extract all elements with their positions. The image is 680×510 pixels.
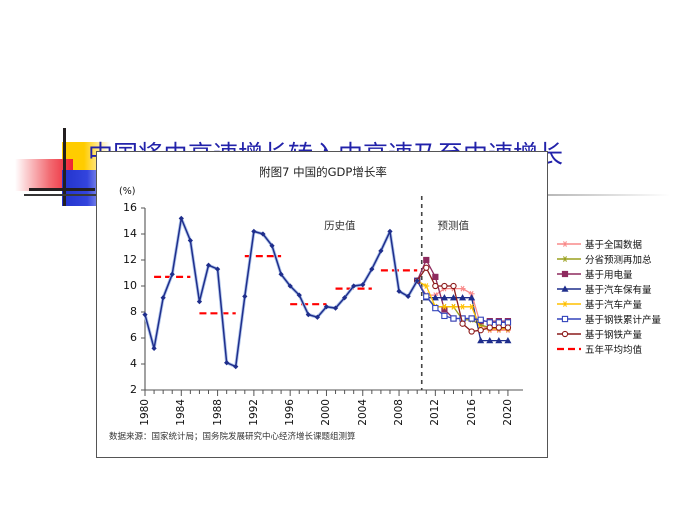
x-axis-tick-label: 2020 <box>502 399 514 426</box>
legend-item[interactable]: 基于钢铁产量 <box>556 326 678 341</box>
series-line <box>417 281 508 341</box>
history-line-halo <box>145 218 417 366</box>
legend-label: 分省预测再加总 <box>585 252 652 266</box>
data-point-marker <box>562 241 568 246</box>
chart-legend: 基于全国数据分省预测再加总基于用电量基于汽车保有量基于汽车产量基于钢铁累计产量基… <box>556 236 678 356</box>
legend-marker-icon <box>556 328 582 340</box>
source-note: 数据来源：国家统计局；国务院发展研究中心经济增长课题组测算 <box>109 430 356 442</box>
x-axis-tick-label: 2016 <box>466 399 478 426</box>
data-point-marker <box>496 320 501 325</box>
legend-label: 基于钢铁产量 <box>585 327 642 341</box>
data-point-marker <box>505 320 510 325</box>
data-point-marker <box>460 304 466 309</box>
legend-item[interactable]: 分省预测再加总 <box>556 251 678 266</box>
data-point-marker <box>424 265 429 270</box>
y-axis-tick-label: 12 <box>115 253 137 266</box>
legend-item[interactable]: 基于汽车产量 <box>556 296 678 311</box>
data-point-marker <box>450 304 456 309</box>
data-point-marker <box>423 257 429 263</box>
series-line <box>145 218 417 366</box>
x-axis-tick-label: 1984 <box>175 399 187 426</box>
data-point-marker <box>505 325 510 330</box>
plot-area: 2468101214161980198419881992199620002004… <box>97 152 549 459</box>
legend-item[interactable]: 基于钢铁累计产量 <box>556 311 678 326</box>
series-forecast <box>415 278 511 325</box>
legend-marker-icon <box>556 283 582 295</box>
data-point-marker <box>460 321 465 326</box>
data-point-marker <box>496 325 501 330</box>
legend-marker-icon <box>556 238 582 250</box>
legend-marker-icon <box>556 253 582 265</box>
data-point-marker <box>487 325 492 330</box>
data-point-marker <box>433 283 438 288</box>
data-point-marker <box>424 294 429 299</box>
x-axis-tick-label: 2008 <box>393 399 405 426</box>
legend-label: 五年平均均值 <box>585 342 642 356</box>
legend-marker-icon <box>556 343 582 355</box>
legend-label: 基于汽车产量 <box>585 297 642 311</box>
series-history <box>143 216 420 369</box>
data-point-marker <box>433 306 438 311</box>
data-point-marker <box>451 283 456 288</box>
data-point-marker <box>562 271 568 277</box>
data-point-marker <box>469 316 474 321</box>
data-point-marker <box>562 301 568 306</box>
data-point-marker <box>451 316 456 321</box>
data-point-marker <box>487 320 492 325</box>
legend-label: 基于钢铁累计产量 <box>585 312 661 326</box>
x-axis-tick-label: 2000 <box>320 399 332 426</box>
y-axis-tick-label: 6 <box>115 331 137 344</box>
legend-item[interactable]: 基于汽车保有量 <box>556 281 678 296</box>
legend-marker-icon <box>556 268 582 280</box>
legend-item[interactable]: 基于用电量 <box>556 266 678 281</box>
y-axis-tick-label: 4 <box>115 357 137 370</box>
x-axis-tick-label: 2012 <box>429 399 441 426</box>
data-point-marker <box>478 317 483 322</box>
history-band-label: 历史值 <box>324 218 356 233</box>
x-axis-tick-label: 1996 <box>284 399 296 426</box>
data-point-marker <box>562 331 567 336</box>
data-point-marker <box>469 329 474 334</box>
legend-marker-icon <box>556 313 582 325</box>
x-axis-tick-label: 2004 <box>357 399 369 426</box>
x-axis-tick-label: 1980 <box>139 399 151 426</box>
forecast-band-label: 预测值 <box>437 218 469 233</box>
legend-label: 基于全国数据 <box>585 237 642 251</box>
legend-label: 基于汽车保有量 <box>585 282 652 296</box>
y-axis-tick-label: 2 <box>115 383 137 396</box>
y-axis-tick-label: 10 <box>115 279 137 292</box>
decor-horizontal-bar <box>29 188 95 191</box>
data-point-marker <box>562 316 567 321</box>
data-point-marker <box>442 283 447 288</box>
legend-item[interactable]: 基于全国数据 <box>556 236 678 251</box>
slide-title-block: 中国将由高速增长转入中高速乃至中速增长 <box>0 60 680 160</box>
legend-label: 基于用电量 <box>585 267 633 281</box>
data-point-marker <box>562 256 568 261</box>
y-axis-tick-label: 16 <box>115 201 137 214</box>
x-axis-tick-label: 1988 <box>212 399 224 426</box>
data-point-marker <box>433 274 439 280</box>
chart-panel: 附图7 中国的GDP增长率 (%) 2468101214161980198419… <box>96 151 548 458</box>
legend-marker-icon <box>556 298 582 310</box>
data-point-marker <box>442 313 447 318</box>
series-line <box>417 260 508 321</box>
y-axis-tick-label: 8 <box>115 305 137 318</box>
x-axis-tick-label: 1992 <box>248 399 260 426</box>
y-axis-tick-label: 14 <box>115 227 137 240</box>
data-point-marker <box>478 328 483 333</box>
legend-item[interactable]: 五年平均均值 <box>556 341 678 356</box>
